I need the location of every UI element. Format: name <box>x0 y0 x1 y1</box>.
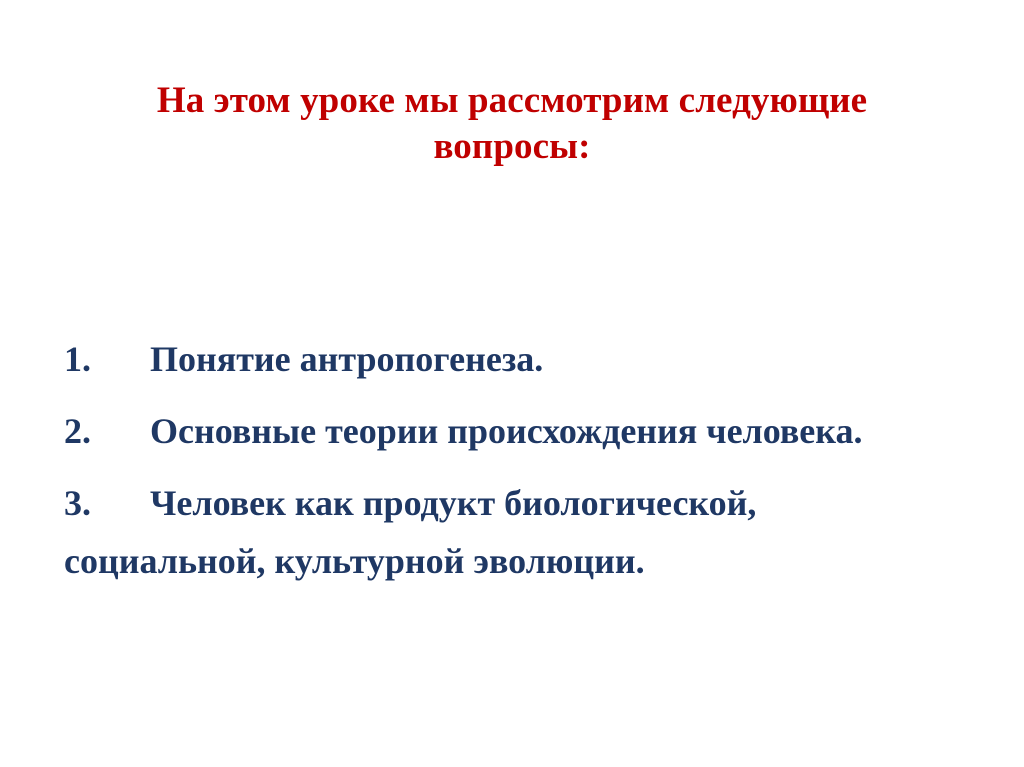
list-item-text: Человек как продукт биологической, социа… <box>64 483 756 581</box>
list-item-number: 1. <box>64 330 150 388</box>
list-item: 1.Понятие антропогенеза. <box>64 330 964 388</box>
list-item-number: 3. <box>64 474 150 532</box>
list-spacer <box>64 460 964 474</box>
list-item: 3.Человек как продукт биологической, соц… <box>64 474 964 590</box>
list-item-text: Понятие антропогенеза. <box>150 339 543 379</box>
slide-title-line-2: вопросы: <box>62 124 962 170</box>
list-item: 2.Основные теории происхождения человека… <box>64 402 964 460</box>
numbered-list: 1.Понятие антропогенеза. 2.Основные теор… <box>64 330 964 590</box>
list-spacer <box>64 388 964 402</box>
list-item-number: 2. <box>64 402 150 460</box>
list-item-text: Основные теории происхождения человека. <box>150 411 862 451</box>
slide-canvas: На этом уроке мы рассмотрим следующие во… <box>0 0 1024 767</box>
slide-title: На этом уроке мы рассмотрим следующие во… <box>62 78 962 170</box>
slide-title-line-1: На этом уроке мы рассмотрим следующие <box>62 78 962 124</box>
